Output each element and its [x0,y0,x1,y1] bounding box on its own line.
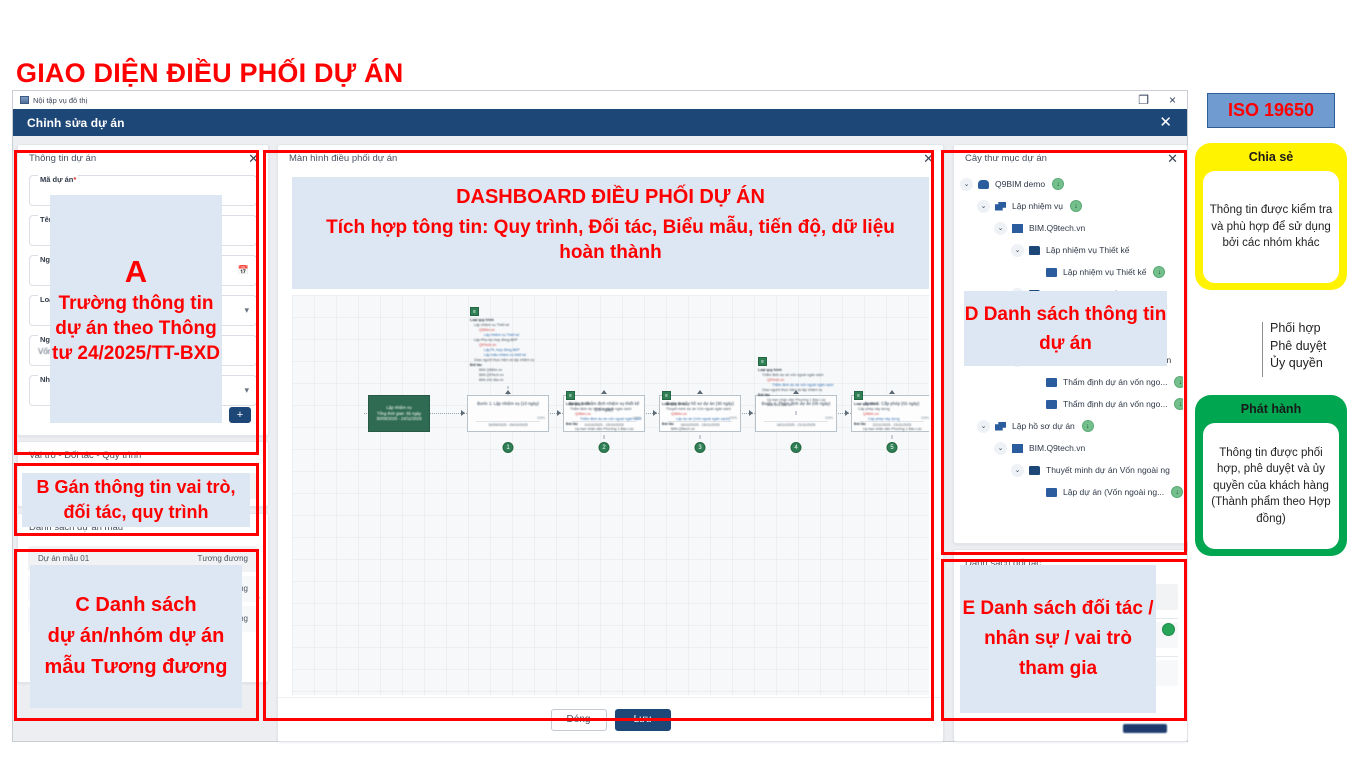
tree-node-label: BIM.Q9tech.vn [1029,443,1085,453]
download-icon[interactable]: ↓ [1174,376,1183,388]
close-icon[interactable]: × [1169,93,1176,107]
fold-icon [1029,246,1040,255]
tree-node[interactable]: ⌄Lập nhiệm vụ Thiết kế [960,239,1183,261]
flow-step-progress: 100% [537,416,545,420]
iso-middle-line-2: Phê duyệt [1270,338,1365,356]
file-icon [1046,400,1057,409]
tree-node-label: Lập nhiệm vụ Thiết kế [1063,267,1146,277]
flow-step-dates: 30/09/2025 - 09/10/2025 [471,423,545,427]
flow-arrow-icon [889,390,895,394]
tree-close-icon[interactable]: ✕ [1167,152,1178,165]
calendar-icon[interactable]: 📅 [238,265,249,276]
tree-node-label: Lập nhiệm vụ [1012,201,1063,211]
status-badge[interactable] [1162,623,1175,636]
roles-title: Vai trò - Đối tác - Quy trình [29,450,141,461]
file-icon [1046,378,1057,387]
chevron-down-icon[interactable]: ⌄ [960,178,973,191]
tree-spacer [1028,486,1041,499]
dashboard-footer: Đóng Lưu [278,697,943,741]
tree-node-label: BIM.Q9tech.vn [1029,223,1085,233]
chevron-down-icon[interactable]: ⌄ [1011,244,1024,257]
chevron-down-icon[interactable]: ▾ [244,305,249,316]
tree-node[interactable]: ⌄Lập hồ sơ dự án↓ [960,415,1183,437]
divider [476,421,540,422]
flow-step-note: ≡Loại quy trìnhCấp phép xây dựngQ9Bim.vn… [854,391,929,432]
tree-node-label: Thẩm định dự án vốn ngo... [1063,377,1167,387]
flow-step-badge[interactable]: 5 [887,442,898,453]
flow-arrow-icon [557,410,561,416]
tree-node[interactable]: ⌄BIM.Q9tech.vn [960,217,1183,239]
dialog-close-icon[interactable]: ✕ [1159,115,1172,130]
file-icon [1046,268,1057,277]
annotation-label-c: C Danh sách dự án/nhóm dự án mẫu Tương đ… [30,565,242,708]
annotation-a-text: Trường thông tin dự án theo Thông tư 24/… [50,291,222,366]
window-taskbar: Nội tập vụ đô thị ❐ × [13,91,1187,109]
flow-note-connector [700,435,701,439]
flow-step-badge[interactable]: 2 [599,442,610,453]
tree-title: Cây thư mục dự án [965,153,1047,164]
tree-node[interactable]: Lập nhiệm vụ Thiết kế↓ [960,261,1183,283]
flow-start-line3: 30/09/2025 - 24/11/2025 [376,416,421,422]
chevron-down-icon[interactable]: ⌄ [994,442,1007,455]
flow-note-line: BIM.Q9tech.vn [662,427,770,432]
tree-spacer [1028,376,1041,389]
dashboard-banner-line1: DASHBOARD ĐIỀU PHỐI DỰ ÁN [292,186,929,209]
iso-middle-labels: Phối hợp Phê duyệt Ủy quyền [1270,320,1365,373]
flow-step-dates: 16/11/2025 - 21/11/2025 [759,423,833,427]
flow-start-node[interactable]: Lập nhiệm vụ Tổng thời gian: 55 ngày 30/… [368,395,430,432]
download-icon[interactable]: ↓ [1174,398,1183,410]
tree-node-label: Thẩm định dự án vốn ngo... [1063,399,1167,409]
note-document-icon: ≡ [854,391,863,400]
annotation-label-b: B Gán thông tin vai trò, đối tác, quy tr… [22,473,250,527]
restore-icon[interactable]: ❐ [1138,93,1149,107]
file-icon [1046,488,1057,497]
chevron-down-icon[interactable]: ⌄ [1011,464,1024,477]
flow-note-connector [796,411,797,415]
tree-spacer [1028,398,1041,411]
flow-note-line: Ủy ban nhân dân Phường 1 Bảo Lộc [854,427,929,432]
add-field-button[interactable]: + [229,407,251,423]
window-title: Nội tập vụ đô thị [33,96,87,105]
tree-node-label: Lập nhiệm vụ Thiết kế [1046,245,1129,255]
tree-node[interactable]: ⌄Thuyết minh dự án Vốn ngoài ng [960,459,1183,481]
field-label: Mã dự án* [38,175,78,184]
iso-badge: ISO 19650 [1207,93,1335,128]
download-icon[interactable]: ↓ [1082,420,1094,432]
flow-note-connector [604,435,605,439]
annotation-label-d: D Danh sách thông tin dự án [964,291,1167,366]
annotation-a-letter: A [125,253,147,291]
dialog-title: Chỉnh sửa dự án [27,116,125,130]
flow-arrow-icon [505,390,511,394]
divider [764,421,828,422]
tree-node-label: Thuyết minh dự án Vốn ngoài ng [1046,465,1170,475]
project-info-header: Thông tin dự án ✕ [18,145,268,172]
dashboard-card: Màn hình điều phối dự án ✕ DASHBOARD ĐIỀ… [277,144,944,742]
iso-publish-card: Phát hành Thông tin được phối hợp, phê d… [1195,395,1347,556]
dashboard-banner: DASHBOARD ĐIỀU PHỐI DỰ ÁN Tích hợp tông … [292,177,929,289]
tree-node-label: Lập dự án (Vốn ngoài ng... [1063,487,1164,497]
dashboard-title: Màn hình điều phối dự án [289,153,397,164]
close-button[interactable]: Đóng [551,709,607,731]
flow-note-line: Ủy ban nhân dân Phường 1 Bảo Lộc [566,427,674,432]
flow-step-note: ≡Loại quy trìnhLập nhiệm vụ Thiết kếQ9Bi… [470,307,578,383]
flow-step-note: ≡Loại quy trìnhThuyết minh dự án Vốn ngo… [662,391,770,432]
project-info-close-icon[interactable]: ✕ [248,152,259,165]
window-icon [20,96,29,104]
flow-arrow-icon [749,410,753,416]
flow-step-badge[interactable]: 3 [695,442,706,453]
annotation-c-text: dự án/nhóm dự án mẫu Tương đương [30,621,242,683]
iso-connector-line [1262,322,1263,377]
chevron-down-icon[interactable]: ⌄ [994,222,1007,235]
tree-node[interactable]: ⌄Lập nhiệm vụ↓ [960,195,1183,217]
tree-node[interactable]: Lập dự án (Vốn ngoài ng...↓ [960,481,1183,503]
flow-arrow-icon [697,390,703,394]
annotation-b-text: B Gán thông tin vai trò, đối tác, quy tr… [22,475,250,525]
flow-step-node[interactable]: Bước 1: Lập nhiệm vụ (10 ngày)30/09/2025… [467,395,549,432]
note-document-icon: ≡ [470,307,479,316]
fold-icon [1029,466,1040,475]
flow-note-connector [892,435,893,439]
net-icon [995,422,1006,431]
flow-step-title: Bước 1: Lập nhiệm vụ (10 ngày) [471,401,545,407]
annotation-c-letter: C Danh sách [75,590,196,621]
flow-arrow-icon [601,390,607,394]
dashboard-header: Màn hình điều phối dự án ✕ [278,145,943,172]
flow-arrow-icon [793,390,799,394]
cloud-icon [978,180,989,189]
iso-publish-title: Phát hành [1195,402,1347,416]
iso-share-title: Chia sẻ [1195,150,1347,164]
iso-publish-body: Thông tin được phối hợp, phê duyệt và ủy… [1203,423,1339,549]
iso-share-body-text: Thông tin được kiểm tra và phù hợp để sử… [1209,202,1333,252]
flow-canvas[interactable]: Lập nhiệm vụ Tổng thời gian: 55 ngày 30/… [292,295,929,695]
net-icon [995,202,1006,211]
screenshot-root: GIAO DIỆN ĐIỀU PHỐI DỰ ÁN Nội tập vụ đô … [0,0,1365,768]
tree-node[interactable]: ⌄BIM.Q9tech.vn [960,437,1183,459]
chevron-down-icon[interactable]: ⌄ [977,200,990,213]
dashboard-banner-line2: Tích hợp tông tin: Quy trình, Đối tác, B… [314,215,907,265]
page-title: GIAO DIỆN ĐIỀU PHỐI DỰ ÁN [16,58,403,89]
iso-share-body: Thông tin được kiểm tra và phù hợp để sử… [1203,171,1339,283]
download-icon[interactable]: ↓ [1052,178,1064,190]
tree-node[interactable]: ⌄Q9BIM demo↓ [960,173,1183,195]
dashboard-close-icon[interactable]: ✕ [923,152,934,165]
dialog-header: Chỉnh sửa dự án ✕ [13,109,1187,136]
bld-icon [1012,224,1023,233]
tree-spacer [1028,266,1041,279]
tree-node-label: Q9BIM demo [995,179,1045,189]
flow-note-line: BIM chủ đầu tư [758,403,866,408]
bld-icon [1012,444,1023,453]
note-document-icon: ≡ [566,391,575,400]
download-icon[interactable]: ↓ [1171,486,1183,498]
flow-step-note: ≡Loại quy trìnhThẩm định dự án vốn ngoài… [758,357,866,408]
tree-node-label: Lập hồ sơ dự án [1012,421,1075,431]
tree-header: Cây thư mục dự án ✕ [954,145,1187,172]
flow-arrow-icon [845,410,849,416]
annotation-d-text: D Danh sách thông tin dự án [964,300,1167,358]
list-item-right: Tương đương [197,554,248,563]
next-page-icon[interactable]: › [256,592,260,604]
window-controls: ❐ × [1138,93,1187,107]
download-icon[interactable]: ↓ [1153,266,1165,278]
iso-middle-line-3: Ủy quyền [1270,355,1365,373]
tree-node[interactable]: Thẩm định dự án vốn ngo...↓ [960,393,1183,415]
flow-arrow-icon [461,410,465,416]
iso-middle-line-1: Phối hợp [1270,320,1365,338]
note-document-icon: ≡ [662,391,671,400]
flow-step-badge[interactable]: 4 [791,442,802,453]
flow-arrow-icon [653,410,657,416]
flow-step-progress: 100% [825,416,833,420]
iso-publish-body-text: Thông tin được phối hợp, phê duyệt và ủy… [1209,445,1333,528]
tree-node[interactable]: Thẩm định dự án vốn ngo...↓ [960,371,1183,393]
list-item-label: Dự án mẫu 01 [38,554,89,563]
chevron-down-icon[interactable]: ▾ [244,385,249,396]
iso-share-card: Chia sẻ Thông tin được kiểm tra và phù h… [1195,143,1347,290]
partner-logo [1123,724,1167,733]
project-info-title: Thông tin dự án [29,153,96,164]
save-button[interactable]: Lưu [615,709,671,731]
chevron-down-icon[interactable]: ⌄ [977,420,990,433]
flow-note-line: BIM chủ đầu tư [470,378,578,383]
annotation-label-e: E Danh sách đối tác / nhân sự / vai trò … [960,565,1156,713]
flow-step-badge[interactable]: 1 [503,442,514,453]
download-icon[interactable]: ↓ [1070,200,1082,212]
flow-step-note: ≡Loại quy trìnhThẩm định dự án vốn ngoài… [566,391,674,432]
note-document-icon: ≡ [758,357,767,366]
roles-header: Vai trò - Đối tác - Quy trình [18,442,268,469]
annotation-label-a: A Trường thông tin dự án theo Thông tư 2… [50,195,222,423]
annotation-e-text: E Danh sách đối tác / nhân sự / vai trò … [960,594,1156,684]
